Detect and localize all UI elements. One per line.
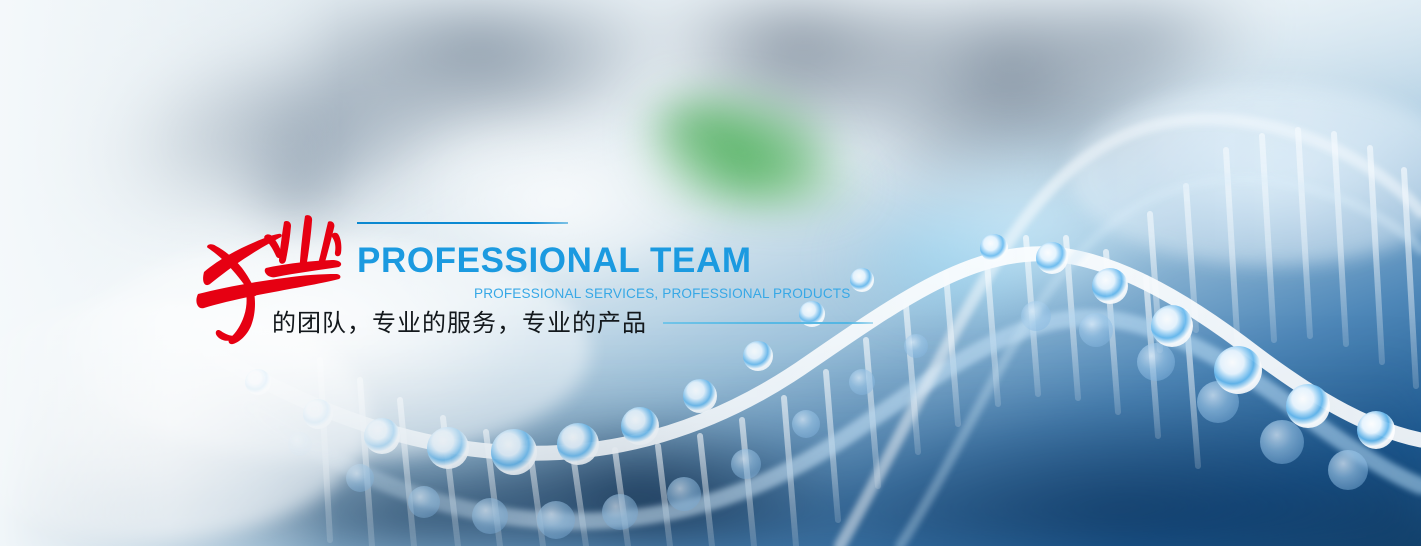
divider-top [357,222,568,224]
divider-bottom [663,322,873,324]
hero-banner: PROFESSIONAL TEAM PROFESSIONAL SERVICES,… [0,0,1421,546]
banner-text-block: PROFESSIONAL TEAM PROFESSIONAL SERVICES,… [0,0,1421,546]
page-title: PROFESSIONAL TEAM [357,243,752,278]
tagline-chinese: 的团队，专业的服务，专业的产品 [272,308,647,338]
page-subtitle: PROFESSIONAL SERVICES, PROFESSIONAL PROD… [474,286,850,300]
